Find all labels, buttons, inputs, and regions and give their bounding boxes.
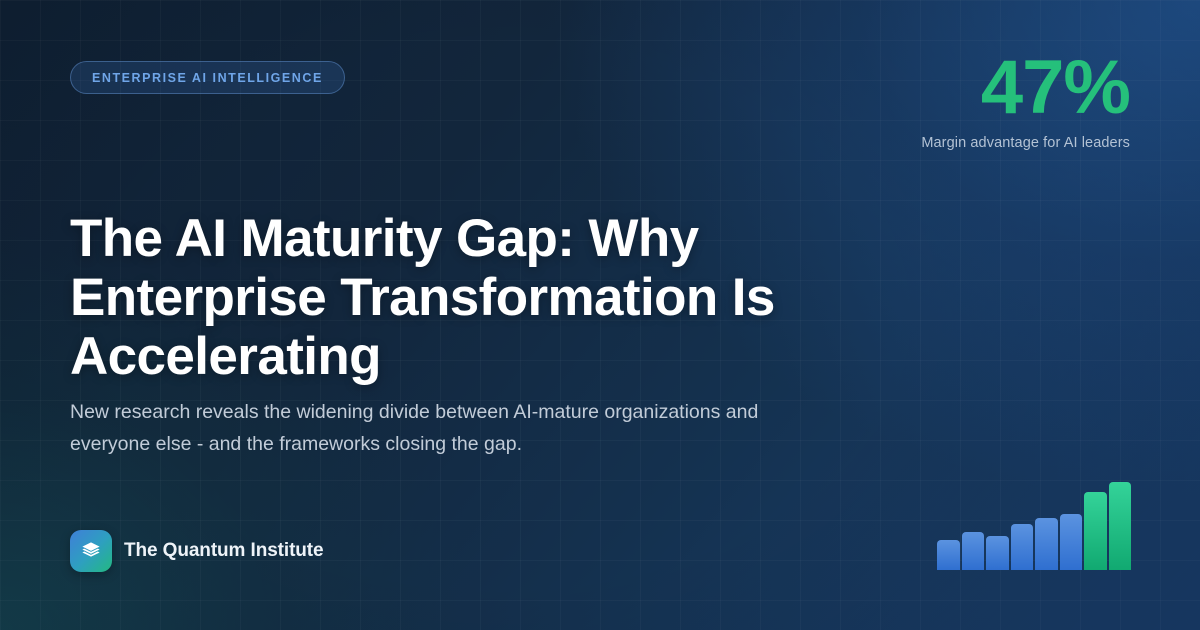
brand-lockup: The Quantum Institute [70,530,324,572]
chart-bar [1109,482,1132,570]
chart-bar [986,536,1009,570]
chart-bar [1060,514,1083,570]
page-title: The AI Maturity Gap: Why Enterprise Tran… [70,209,870,387]
chart-bar [937,540,960,570]
page-subtitle: New research reveals the widening divide… [70,396,770,462]
stat-block: 47% Margin advantage for AI leaders [921,52,1130,151]
category-badge-label: ENTERPRISE AI INTELLIGENCE [92,71,323,85]
chart-bar [962,532,985,570]
chart-bar [1084,492,1107,570]
brand-name: The Quantum Institute [124,540,324,562]
mini-bar-chart [937,480,1131,570]
stat-label: Margin advantage for AI leaders [921,135,1130,151]
chart-bar [1011,524,1034,570]
stat-value: 47% [921,52,1130,123]
category-badge: ENTERPRISE AI INTELLIGENCE [70,61,345,94]
layers-stack-icon [80,540,102,562]
brand-logo-mark [70,530,112,572]
social-card: ENTERPRISE AI INTELLIGENCE 47% Margin ad… [0,0,1200,630]
chart-bar [1035,518,1058,570]
